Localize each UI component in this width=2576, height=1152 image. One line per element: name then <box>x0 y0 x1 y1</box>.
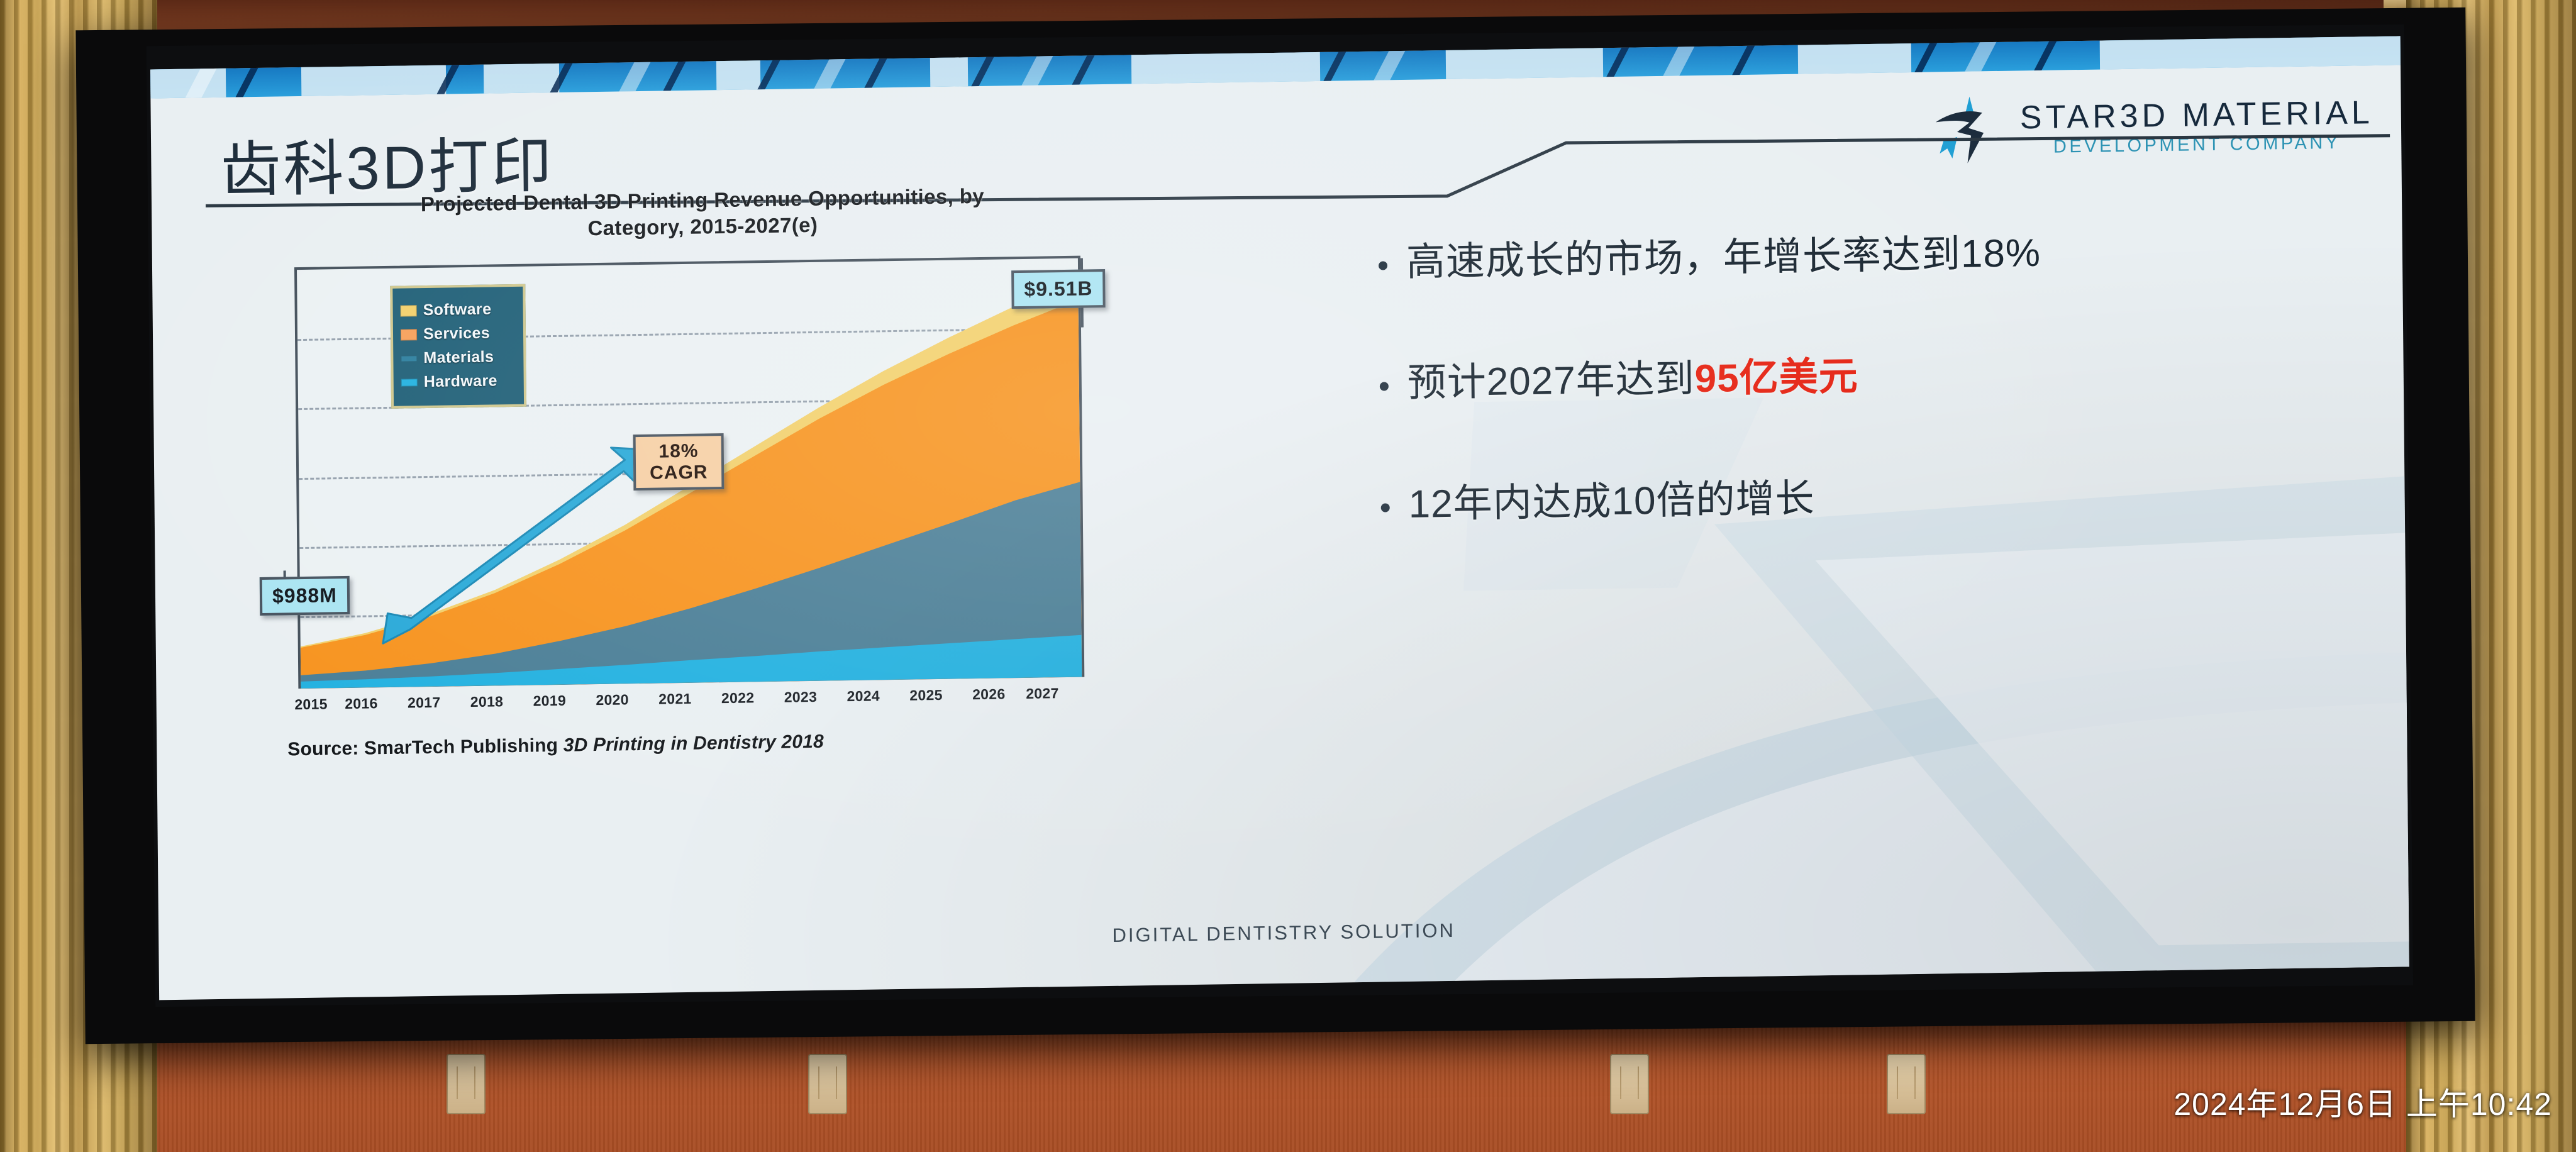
legend-item: Hardware <box>401 372 518 392</box>
x-tick: 2024 <box>847 687 880 713</box>
wall-outlet <box>447 1054 486 1114</box>
legend-swatch-services <box>401 329 417 340</box>
wall-outlet <box>1887 1054 1926 1114</box>
company-logo: STAR3D MATERIAL DEVELOPMENT COMPANY <box>1932 89 2374 165</box>
chart-x-axis: 2015 2016 2017 2018 2019 2020 2021 2022 … <box>299 685 1085 722</box>
end-value-callout: $9.51B <box>1011 269 1106 309</box>
x-tick: 2016 <box>345 695 378 721</box>
x-tick: 2022 <box>721 689 755 715</box>
x-tick: 2020 <box>596 691 629 717</box>
x-tick: 2023 <box>784 689 818 714</box>
list-item: 预计2027年达到95亿美元 <box>1379 346 2361 408</box>
bullet-dot-icon <box>1379 261 1387 270</box>
chart-legend: Software Services Materials <box>390 284 526 409</box>
cagr-value: 18% <box>658 441 698 462</box>
logo-sub-text: DEVELOPMENT COMPANY <box>2020 133 2373 157</box>
chart-source-note: Source: SmarTech Publishing 3D Printing … <box>287 731 824 761</box>
chart-title-line-2: Category, 2015-2027(e) <box>587 213 818 240</box>
start-value-callout: $988M <box>260 576 350 616</box>
x-tick: 2015 <box>294 695 328 721</box>
source-prefix: Source: SmarTech Publishing <box>287 735 563 760</box>
logo-main-text: STAR3D MATERIAL <box>2020 96 2373 134</box>
star-swoosh-icon <box>1932 95 2007 165</box>
bullet-text-2-highlight: 95亿美元 <box>1694 355 1858 401</box>
list-item: 12年内达成10倍的增长 <box>1380 467 2362 529</box>
bullet-text-2: 预计2027年达到95亿美元 <box>1407 354 1858 407</box>
x-tick: 2019 <box>533 692 566 718</box>
legend-swatch-materials <box>401 355 417 362</box>
bullet-dot-icon <box>1380 382 1389 391</box>
legend-item: Software <box>401 300 517 320</box>
cagr-unit: CAGR <box>650 462 708 483</box>
source-title: 3D Printing in Dentistry 2018 <box>563 731 824 756</box>
wall-outlet <box>808 1054 847 1114</box>
presentation-slide: 齿科3D打印 STAR3D MATERIAL DEVELOPMENT COMPA… <box>150 36 2409 1000</box>
bullet-dot-icon <box>1381 503 1390 512</box>
legend-label-services: Services <box>423 324 490 344</box>
x-tick: 2021 <box>658 690 692 716</box>
photo-of-projector-screen: 齿科3D打印 STAR3D MATERIAL DEVELOPMENT COMPA… <box>0 0 2576 1152</box>
legend-label-hardware: Hardware <box>424 372 497 391</box>
bullet-list: 高速成长的市场，年增长率达到18% 预计2027年达到95亿美元 12年内达成1… <box>1379 225 2363 602</box>
list-item: 高速成长的市场，年增长率达到18% <box>1379 225 2360 287</box>
cagr-callout: 18% CAGR <box>633 433 724 490</box>
x-tick: 2017 <box>408 694 441 720</box>
bullet-text-3: 12年内达成10倍的增长 <box>1408 475 1815 528</box>
slide-top-accent-band <box>150 36 2401 98</box>
x-tick: 2025 <box>909 687 943 712</box>
projection-screen-surface: 齿科3D打印 STAR3D MATERIAL DEVELOPMENT COMPA… <box>147 25 2414 1007</box>
bullet-text-1: 高速成长的市场，年增长率达到18% <box>1406 230 2041 286</box>
x-tick: 2018 <box>470 693 504 719</box>
camera-timestamp: 2024年12月6日 上午10:42 <box>2173 1079 2552 1124</box>
x-tick: 2027 <box>1026 685 1059 711</box>
legend-label-software: Software <box>423 300 492 319</box>
x-tick: 2026 <box>972 685 1006 711</box>
projection-screen-frame: 齿科3D打印 STAR3D MATERIAL DEVELOPMENT COMPA… <box>75 8 2475 1044</box>
legend-swatch-hardware <box>401 379 418 386</box>
revenue-chart: Projected Dental 3D Printing Revenue Opp… <box>269 180 1143 872</box>
wall-outlet <box>1610 1054 1649 1114</box>
slide-footer: DIGITAL DENTISTRY SOLUTION <box>158 905 2409 961</box>
legend-item: Materials <box>401 348 517 368</box>
legend-label-materials: Materials <box>423 348 494 367</box>
bullet-text-2-plain: 预计2027年达到 <box>1407 358 1696 406</box>
legend-item: Services <box>401 324 517 344</box>
legend-swatch-software <box>401 305 417 316</box>
